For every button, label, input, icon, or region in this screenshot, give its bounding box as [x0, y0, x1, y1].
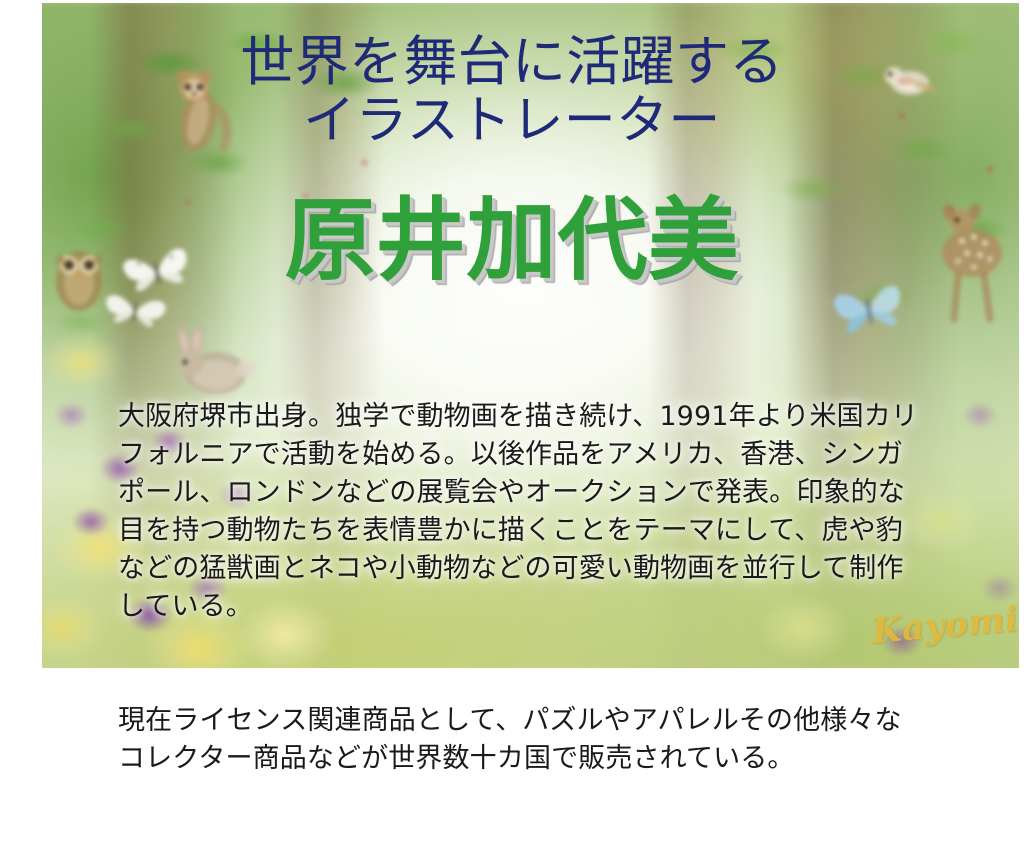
artist-name: 原井加代美 [0, 196, 1024, 286]
page-headline: 世界を舞台に活躍する イラストレーター [0, 34, 1024, 148]
poster-canvas: 世界を舞台に活躍する イラストレーター 原井加代美 大阪府堺市出身。独学で動物画… [0, 0, 1024, 700]
headline-line-1: 世界を舞台に活躍する [0, 34, 1024, 89]
artist-biography: 大阪府堺市出身。独学で動物画を描き続け、1991年より米国カリフォルニアで活動を… [118, 322, 918, 854]
bio-paragraph-2: 現在ライセンス関連商品として、パズルやアパレルその他様々なコレクター商品などが世… [118, 702, 918, 778]
headline-line-2: イラストレーター [0, 95, 1024, 148]
bio-paragraph-1: 大阪府堺市出身。独学で動物画を描き続け、1991年より米国カリフォルニアで活動を… [118, 398, 918, 626]
